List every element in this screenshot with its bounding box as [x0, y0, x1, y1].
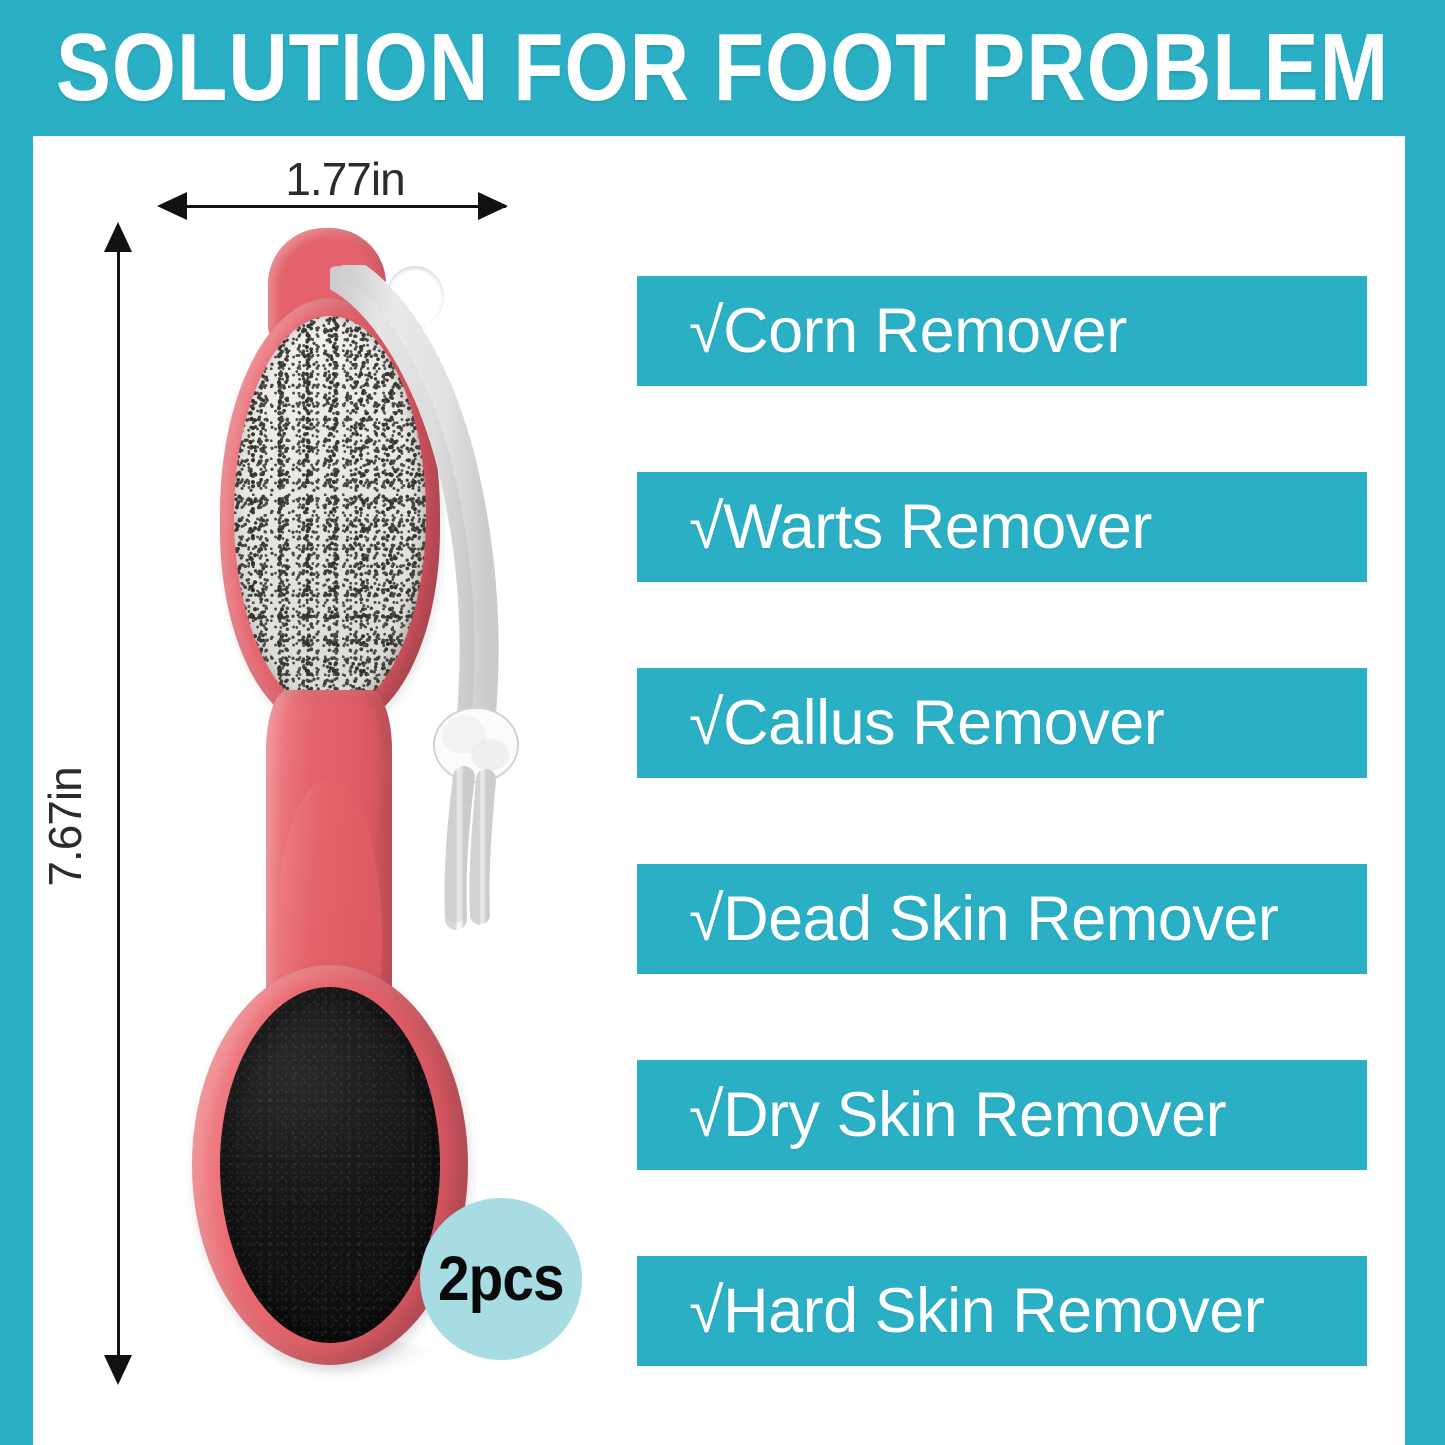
frame-right-border — [1405, 136, 1445, 1445]
frame-left-border — [0, 136, 33, 1445]
width-dimension-line — [172, 205, 506, 208]
arrow-up-icon — [104, 222, 132, 252]
feature-item-hard-skin-remover: √Hard Skin Remover — [637, 1256, 1367, 1366]
quantity-badge: 2pcs — [420, 1198, 582, 1360]
feature-label: √Hard Skin Remover — [689, 1280, 1264, 1343]
feature-label: √Dry Skin Remover — [689, 1084, 1226, 1147]
feature-item-callus-remover: √Callus Remover — [637, 668, 1367, 778]
infographic-page: SOLUTION FOR FOOT PROBLEM 1.77in 7.67in — [0, 0, 1445, 1445]
arrow-left-icon — [157, 192, 187, 220]
feature-item-dry-skin-remover: √Dry Skin Remover — [637, 1060, 1367, 1170]
feature-label: √Corn Remover — [689, 300, 1127, 363]
emery-surface — [220, 987, 440, 1343]
feature-label: √Dead Skin Remover — [689, 888, 1278, 951]
feature-item-warts-remover: √Warts Remover — [637, 472, 1367, 582]
width-dimension-label: 1.77in — [175, 152, 515, 206]
feature-item-dead-skin-remover: √Dead Skin Remover — [637, 864, 1367, 974]
height-dimension-label: 7.67in — [38, 717, 92, 937]
feature-item-corn-remover: √Corn Remover — [637, 276, 1367, 386]
feature-list: √Corn Remover √Warts Remover √Callus Rem… — [637, 276, 1367, 1376]
quantity-badge-label: 2pcs — [438, 1248, 564, 1311]
arrow-down-icon — [104, 1355, 132, 1385]
hanging-cord — [330, 265, 520, 985]
feature-label: √Callus Remover — [689, 692, 1164, 755]
feature-label: √Warts Remover — [689, 496, 1152, 559]
height-dimension-line — [117, 247, 120, 1357]
arrow-right-icon — [478, 192, 508, 220]
page-title: SOLUTION FOR FOOT PROBLEM — [101, 0, 1344, 136]
